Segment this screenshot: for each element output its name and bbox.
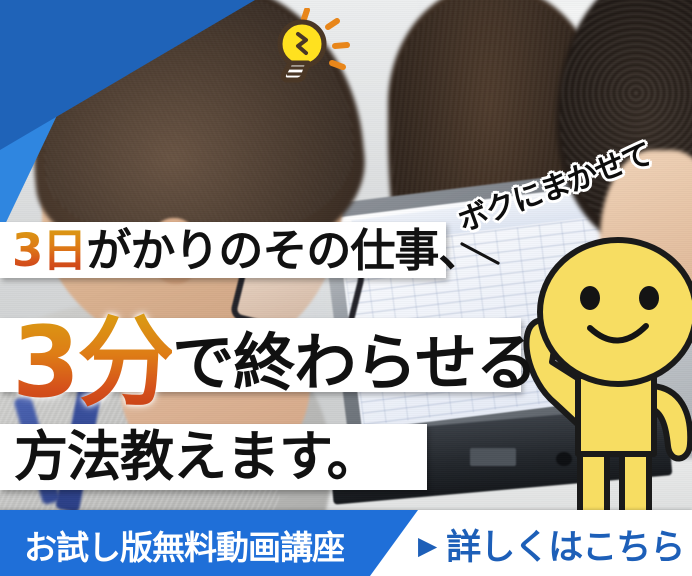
headline-line-2-rest: で終わらせる — [172, 326, 537, 399]
cta-bar[interactable]: お試し版無料動画講座 ▶ 詳しくはこちら — [0, 510, 692, 576]
ad-banner[interactable]: ボクにまかせて — [0, 0, 692, 576]
cta-link[interactable]: ▶ 詳しくはこちら — [418, 519, 684, 570]
mascot-eye-left — [580, 286, 600, 310]
mascot-eye-right — [639, 286, 659, 310]
headline-line-2: 3分で終わらせる — [12, 312, 537, 402]
headline-line-1: 3日がかりのその仕事、 — [12, 226, 482, 276]
headline-number-3days: 3日 — [12, 224, 86, 277]
cta-tag-label: お試し版無料動画講座 — [24, 521, 344, 569]
headline-line-1-rest: がかりのその仕事、 — [86, 224, 482, 277]
headline-line-3: 方法教えます。 — [14, 426, 380, 488]
lightbulb-icon — [258, 8, 358, 86]
headline-number-3minutes: 3分 — [12, 306, 172, 420]
triangle-right-icon: ▶ — [418, 533, 436, 558]
cta-link-label: 詳しくはこちら — [446, 519, 684, 570]
